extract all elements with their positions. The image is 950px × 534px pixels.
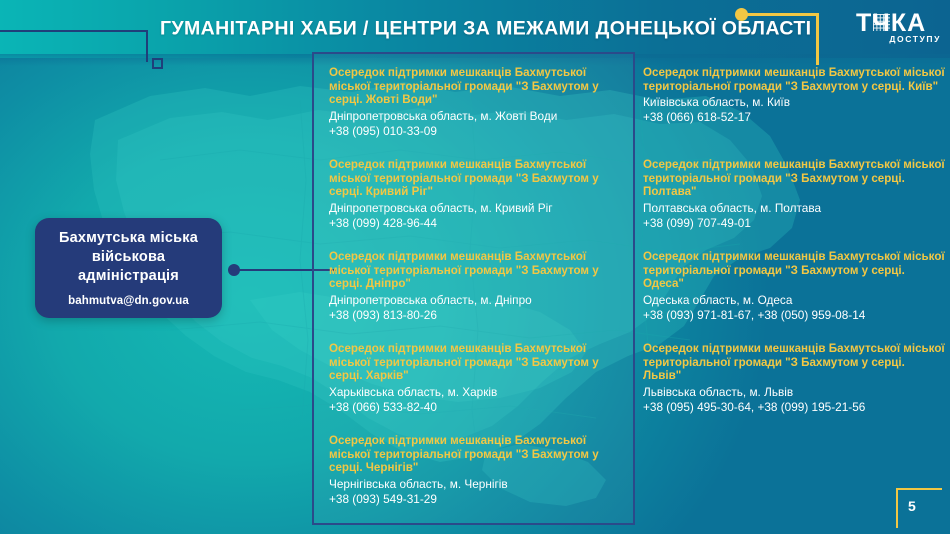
hub-phone[interactable]: +38 (066) 533-82-40 <box>329 400 625 415</box>
hub-region: Дніпропетровська область, м. Дніпро <box>329 293 625 308</box>
hub-list-right-column: Осередок підтримки мешканців Бахмутської… <box>643 66 945 434</box>
hub-title: Осередок підтримки мешканців Бахмутської… <box>329 434 625 475</box>
hub-list-left-column: Осередок підтримки мешканців Бахмутської… <box>329 66 625 526</box>
hub-phone[interactable]: +38 (095) 010-33-09 <box>329 124 625 139</box>
hub-title: Осередок підтримки мешканців Бахмутської… <box>643 250 945 291</box>
hub-phone[interactable]: +38 (093) 971-81-67, +38 (050) 959-08-14 <box>643 308 945 323</box>
elbow-horizontal-line <box>0 30 148 32</box>
hub-phone[interactable]: +38 (099) 707-49-01 <box>643 216 945 231</box>
hub-phone[interactable]: +38 (093) 813-80-26 <box>329 308 625 323</box>
organization-name: Бахмутська міська військова адміністраці… <box>35 229 222 286</box>
gold-vertical-line <box>816 13 819 65</box>
hub-region: Харьківська область, м. Харків <box>329 385 625 400</box>
gold-horizontal-line <box>745 13 819 16</box>
organization-card: Бахмутська міська військова адміністраці… <box>35 218 222 318</box>
hub-entry: Осередок підтримки мешканців Бахмутської… <box>643 158 945 237</box>
hub-entry: Осередок підтримки мешканців Бахмутської… <box>329 434 625 513</box>
elbow-end-square-icon <box>152 58 163 69</box>
hub-region: Дніпропетровська область, м. Кривий Ріг <box>329 201 625 216</box>
hub-title: Осередок підтримки мешканців Бахмутської… <box>329 158 625 199</box>
hub-entry: Осередок підтримки мешканців Бахмутської… <box>643 342 945 421</box>
hub-entry: Осередок підтримки мешканців Бахмутської… <box>329 66 625 145</box>
brand-logo: ТЧКА ДОСТУПУ <box>856 10 942 46</box>
hub-region: Полтавська область, м. Полтава <box>643 201 945 216</box>
hub-region: Чернігівська область, м. Чернігів <box>329 477 625 492</box>
hub-phone[interactable]: +38 (093) 549-31-29 <box>329 492 625 507</box>
hub-title: Осередок підтримки мешканців Бахмутської… <box>643 342 945 383</box>
page-number-corner: 5 <box>896 488 942 528</box>
logo-wordmark: ТЧКА <box>856 10 926 36</box>
hub-region: Дніпропетровська область, м. Жовті Води <box>329 109 625 124</box>
elbow-vertical-line <box>146 30 148 62</box>
hub-title: Осередок підтримки мешканців Бахмутської… <box>643 66 945 93</box>
hub-title: Осередок підтримки мешканців Бахмутської… <box>643 158 945 199</box>
hub-phone[interactable]: +38 (066) 618-52-17 <box>643 110 945 125</box>
hub-title: Осередок підтримки мешканців Бахмутської… <box>329 342 625 383</box>
hub-phone[interactable]: +38 (095) 495-30-64, +38 (099) 195-21-56 <box>643 400 945 415</box>
hub-phone[interactable]: +38 (099) 428-96-44 <box>329 216 625 231</box>
hub-title: Осередок підтримки мешканців Бахмутської… <box>329 66 625 107</box>
hub-region: Львівська область, м. Львів <box>643 385 945 400</box>
organization-email[interactable]: bahmutva@dn.gov.ua <box>68 295 189 307</box>
slide-root: ГУМАНІТАРНІ ХАБИ / ЦЕНТРИ ЗА МЕЖАМИ ДОНЕ… <box>0 0 950 534</box>
page-number: 5 <box>908 498 916 514</box>
hub-entry: Осередок підтримки мешканців Бахмутської… <box>329 158 625 237</box>
content-panel-divider <box>633 52 635 525</box>
hub-entry: Осередок підтримки мешканців Бахмутської… <box>643 66 945 145</box>
logo-subtitle: ДОСТУПУ <box>889 34 941 44</box>
hub-entry: Осередок підтримки мешканців Бахмутської… <box>329 342 625 421</box>
hub-entry: Осередок підтримки мешканців Бахмутської… <box>329 250 625 329</box>
hub-region: Одеська область, м. Одеса <box>643 293 945 308</box>
hub-entry: Осередок підтримки мешканців Бахмутської… <box>643 250 945 329</box>
hub-title: Осередок підтримки мешканців Бахмутської… <box>329 250 625 291</box>
page-title: ГУМАНІТАРНІ ХАБИ / ЦЕНТРИ ЗА МЕЖАМИ ДОНЕ… <box>160 18 811 41</box>
page-corner-vertical-line <box>896 488 898 528</box>
decorative-elbow-top-left <box>0 30 152 64</box>
logo-grid-circle-icon <box>873 14 890 31</box>
page-corner-horizontal-line <box>896 488 942 490</box>
hub-region: Київівська область, м. Київ <box>643 95 945 110</box>
